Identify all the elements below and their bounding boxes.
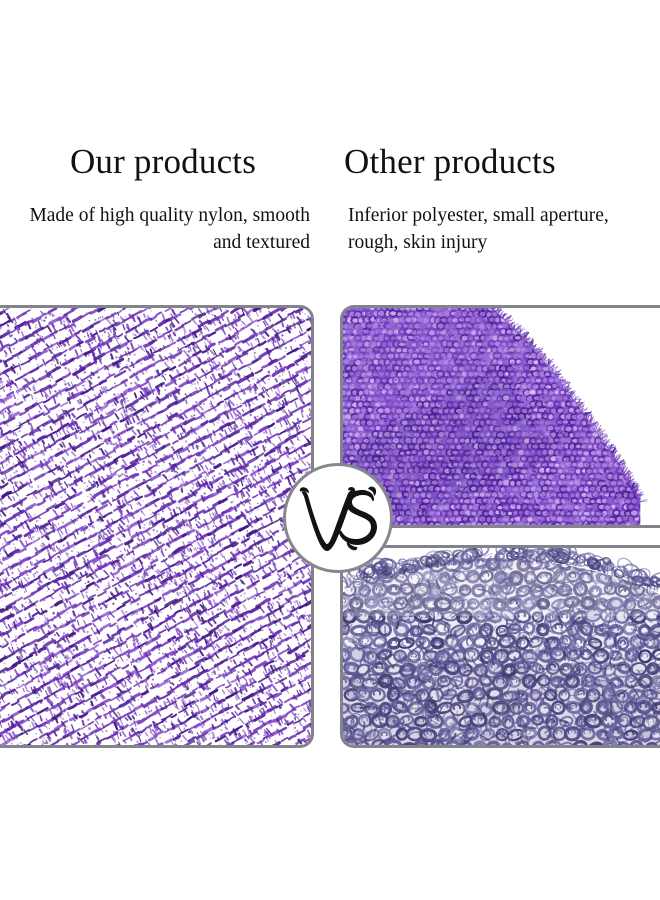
other-products-subtitle: Inferior polyester, small aperture, roug… bbox=[344, 184, 660, 256]
our-products-title: Our products bbox=[0, 140, 314, 184]
our-products-subtitle: Made of high quality nylon, smooth and t… bbox=[0, 184, 314, 256]
other-product-rough-loops-image bbox=[343, 548, 660, 745]
our-product-mesh-panel bbox=[0, 305, 314, 748]
other-products-title: Other products bbox=[344, 140, 660, 184]
other-products-header: Other products Inferior polyester, small… bbox=[330, 140, 660, 290]
other-product-rough-loops-panel bbox=[340, 545, 660, 748]
our-product-mesh-image bbox=[0, 308, 311, 745]
vs-badge bbox=[283, 463, 393, 573]
comparison-headings: Our products Made of high quality nylon,… bbox=[0, 140, 660, 290]
vs-brush-icon bbox=[295, 483, 381, 553]
our-products-header: Our products Made of high quality nylon,… bbox=[0, 140, 330, 290]
other-product-dense-mesh-image bbox=[343, 308, 660, 525]
